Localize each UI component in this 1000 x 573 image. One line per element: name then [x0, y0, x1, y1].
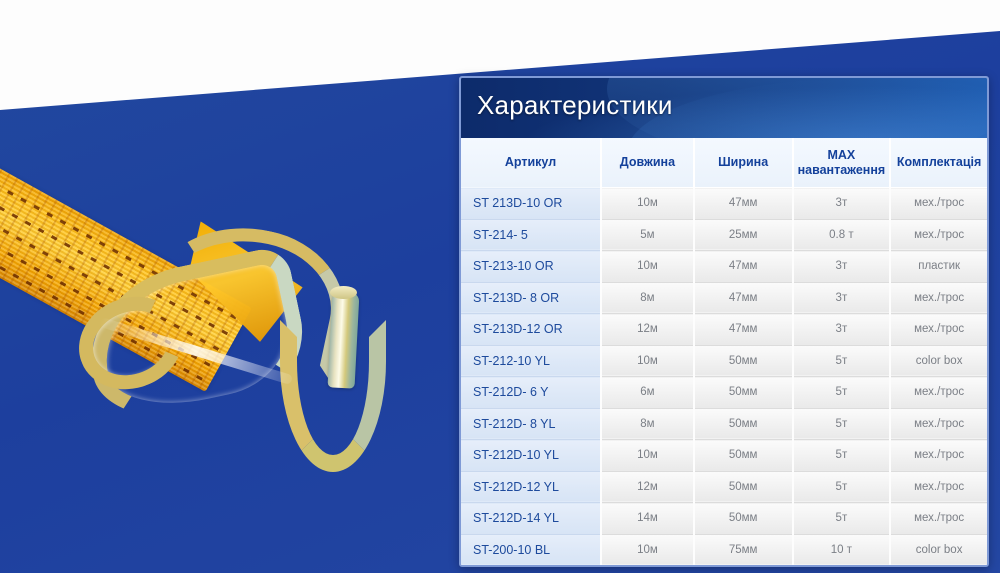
column-header-sku[interactable]: Артикул [461, 138, 601, 188]
cell-width: 47мм [694, 282, 793, 314]
table-row[interactable]: ST-214- 55м25мм0.8 тмех./трос [461, 219, 987, 251]
specifications-card: Характеристики Артикул Довжина Ширина MA… [459, 76, 989, 567]
cell-sku: ST 213D-10 OR [461, 188, 601, 220]
cell-length: 10м [601, 440, 694, 472]
table-row[interactable]: ST-212D-10 YL10м50мм5тмех./трос [461, 440, 987, 472]
column-header-max-load-line1: MAX [827, 148, 855, 162]
table-row[interactable]: ST-213D- 8 OR8м47мм3тмех./трос [461, 282, 987, 314]
cell-length: 8м [601, 408, 694, 440]
cell-length: 14м [601, 503, 694, 535]
cell-sku: ST-212-10 YL [461, 345, 601, 377]
cell-length: 10м [601, 345, 694, 377]
table-row[interactable]: ST-212D- 8 YL8м50мм5тмех./трос [461, 408, 987, 440]
cell-kit: пластик [890, 251, 987, 283]
cell-width: 75мм [694, 534, 793, 566]
cell-kit: color box [890, 345, 987, 377]
cell-max-load: 5т [793, 471, 891, 503]
cell-sku: ST-212D- 6 Y [461, 377, 601, 409]
card-title-bar: Характеристики [461, 78, 987, 138]
cell-sku: ST-212D- 8 YL [461, 408, 601, 440]
hook-tip-cap [330, 286, 357, 299]
table-row[interactable]: ST-213-10 OR10м47мм3тпластик [461, 251, 987, 283]
table-body: ST 213D-10 OR10м47мм3тмех./тросST-214- 5… [461, 188, 987, 566]
cell-length: 8м [601, 282, 694, 314]
table-header: Артикул Довжина Ширина MAX навантаження … [461, 138, 987, 188]
table-row[interactable]: ST-212D-14 YL14м50мм5тмех./трос [461, 503, 987, 535]
table-row[interactable]: ST-212D-12 YL12м50мм5тмех./трос [461, 471, 987, 503]
cell-kit: мех./трос [890, 440, 987, 472]
cell-kit: мех./трос [890, 282, 987, 314]
cell-width: 50мм [694, 440, 793, 472]
cell-kit: мех./трос [890, 408, 987, 440]
cell-max-load: 3т [793, 282, 891, 314]
table-row[interactable]: ST-212D- 6 Y6м50мм5тмех./трос [461, 377, 987, 409]
cell-length: 10м [601, 188, 694, 220]
cell-max-load: 5т [793, 503, 891, 535]
table-row[interactable]: ST-200-10 BL10м75мм10 тcolor box [461, 534, 987, 566]
column-header-length[interactable]: Довжина [601, 138, 694, 188]
cell-kit: мех./трос [890, 471, 987, 503]
cell-length: 5м [601, 219, 694, 251]
cell-width: 50мм [694, 471, 793, 503]
page-title: Характеристики [461, 78, 987, 121]
cell-width: 50мм [694, 377, 793, 409]
cell-max-load: 5т [793, 377, 891, 409]
cell-kit: мех./трос [890, 377, 987, 409]
cell-kit: мех./трос [890, 188, 987, 220]
product-photo-ratchet-strap-j-hook [0, 150, 430, 480]
cell-sku: ST-214- 5 [461, 219, 601, 251]
cell-sku: ST-212D-10 YL [461, 440, 601, 472]
cell-width: 50мм [694, 408, 793, 440]
column-header-max-load-line2: навантаження [798, 163, 886, 177]
cell-sku: ST-213D- 8 OR [461, 282, 601, 314]
cell-width: 47мм [694, 314, 793, 346]
cell-sku: ST-213-10 OR [461, 251, 601, 283]
cell-max-load: 10 т [793, 534, 891, 566]
cell-max-load: 5т [793, 440, 891, 472]
cell-sku: ST-212D-12 YL [461, 471, 601, 503]
cell-max-load: 3т [793, 314, 891, 346]
cell-width: 50мм [694, 345, 793, 377]
cell-width: 47мм [694, 188, 793, 220]
cell-width: 25мм [694, 219, 793, 251]
cell-max-load: 0.8 т [793, 219, 891, 251]
table-row[interactable]: ST-213D-12 OR12м47мм3тмех./трос [461, 314, 987, 346]
table-row[interactable]: ST 213D-10 OR10м47мм3тмех./трос [461, 188, 987, 220]
specifications-table: Артикул Довжина Ширина MAX навантаження … [461, 138, 987, 566]
cell-kit: мех./трос [890, 314, 987, 346]
cell-length: 10м [601, 251, 694, 283]
hook-tip-bar [328, 291, 360, 388]
cell-max-load: 3т [793, 188, 891, 220]
cell-kit: color box [890, 534, 987, 566]
cell-width: 47мм [694, 251, 793, 283]
column-header-max-load[interactable]: MAX навантаження [793, 138, 891, 188]
table-header-row: Артикул Довжина Ширина MAX навантаження … [461, 138, 987, 188]
cell-kit: мех./трос [890, 503, 987, 535]
cell-sku: ST-212D-14 YL [461, 503, 601, 535]
column-header-kit[interactable]: Комплектація [890, 138, 987, 188]
cell-length: 10м [601, 534, 694, 566]
cell-length: 12м [601, 314, 694, 346]
cell-max-load: 3т [793, 251, 891, 283]
cell-max-load: 5т [793, 345, 891, 377]
cell-sku: ST-200-10 BL [461, 534, 601, 566]
column-header-width[interactable]: Ширина [694, 138, 793, 188]
cell-width: 50мм [694, 503, 793, 535]
table-row[interactable]: ST-212-10 YL10м50мм5тcolor box [461, 345, 987, 377]
cell-kit: мех./трос [890, 219, 987, 251]
cell-max-load: 5т [793, 408, 891, 440]
cell-sku: ST-213D-12 OR [461, 314, 601, 346]
slide-canvas: Характеристики Артикул Довжина Ширина MA… [0, 0, 1000, 573]
cell-length: 6м [601, 377, 694, 409]
cell-length: 12м [601, 471, 694, 503]
